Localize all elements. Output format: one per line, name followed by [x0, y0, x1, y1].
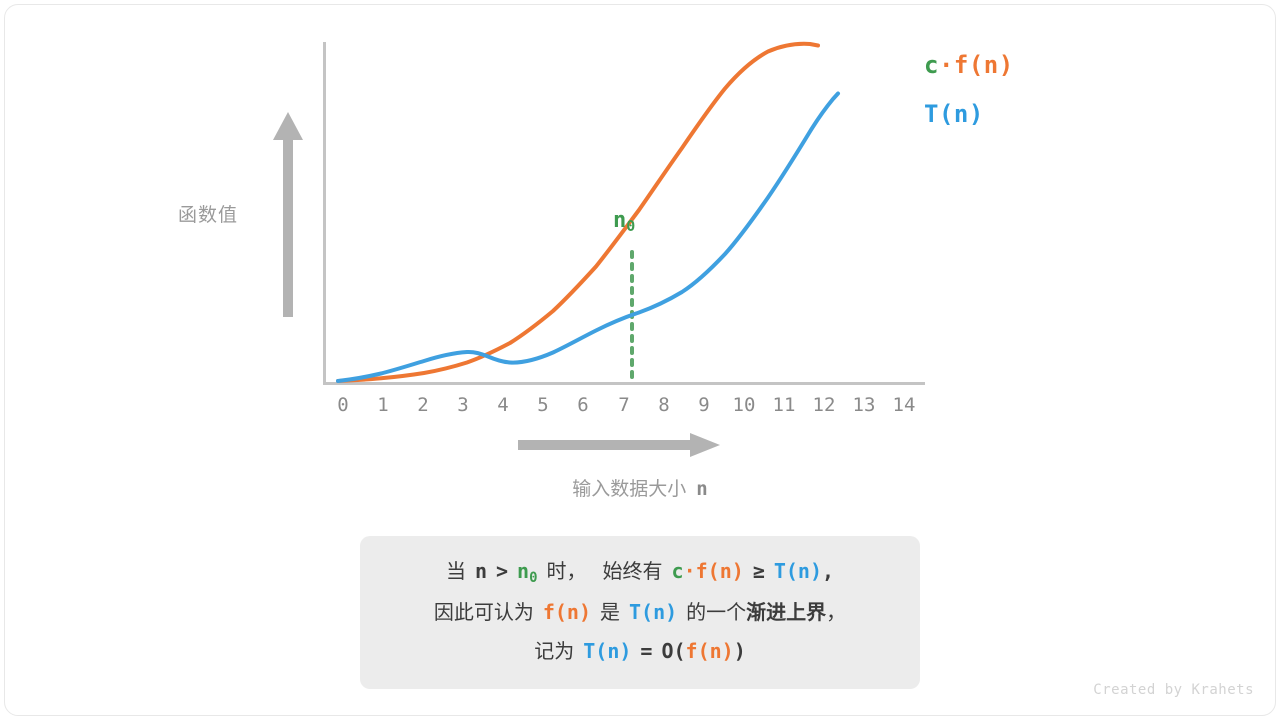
tick-label: 2: [402, 392, 444, 418]
x-axis-label: 输入数据大小n: [0, 474, 1280, 501]
caption-line-2: 因此可认为f(n)是T(n)的一个渐进上界，: [360, 593, 920, 632]
caption-l1-comma: ,: [822, 559, 834, 583]
caption-l1-then: 时，: [547, 561, 587, 583]
tick-label: 0: [322, 392, 364, 418]
n0-marker-label: n0: [613, 208, 635, 233]
tick-label: 8: [643, 392, 685, 418]
tick-label: 11: [763, 392, 805, 418]
caption-l1-always: 始终有: [603, 561, 663, 583]
caption-l2-upper-bound-term: 渐进上界: [746, 602, 826, 624]
caption-l1-dot: ·: [684, 559, 696, 583]
n0-marker-name: n: [613, 208, 626, 233]
n0-marker-subscript: 0: [626, 217, 635, 235]
caption-l3-fn: f(n): [686, 639, 734, 663]
caption-l2-of-a: 的一个: [686, 602, 746, 624]
tick-label: 5: [522, 392, 564, 418]
legend-constant-c: c: [924, 51, 939, 79]
caption-l1-when: 当: [446, 561, 466, 583]
caption-l2-is: 是: [600, 602, 620, 624]
caption-l3-denoted: 记为: [534, 641, 574, 663]
x-axis-variable: n: [696, 478, 707, 500]
caption-l1-n: n: [475, 559, 487, 583]
tick-label: 4: [482, 392, 524, 418]
caption-l1-c: c: [672, 559, 684, 583]
tick-label: 1: [362, 392, 404, 418]
caption-l2-comma: ，: [826, 602, 846, 624]
tick-label: 10: [723, 392, 765, 418]
legend-dot-operator: ·: [939, 51, 954, 79]
legend-label-tn: T(n): [924, 100, 984, 128]
caption-l1-n0: n0: [517, 559, 537, 583]
caption-line-3: 记为T(n)=O(f(n)): [360, 632, 920, 671]
x-axis-tick-labels: 0 1 2 3 4 5 6 7 8 9 10 11 12 13 14: [323, 392, 925, 422]
series-line-cfn: [338, 44, 818, 381]
caption-l2-therefore: 因此可认为: [434, 602, 534, 624]
tick-label: 9: [683, 392, 725, 418]
tick-label: 13: [843, 392, 885, 418]
caption-l2-tn: T(n): [629, 600, 677, 624]
tick-label: 6: [562, 392, 604, 418]
caption-l1-gt: >: [496, 559, 508, 583]
legend-label-cfn: c·f(n): [924, 51, 1014, 79]
caption-line-1: 当n>n0时，始终有c·f(n)≥T(n),: [360, 552, 920, 593]
y-axis-arrow: [272, 112, 304, 317]
caption-l3-eq: =: [640, 639, 652, 663]
tick-label: 3: [442, 392, 484, 418]
tick-label: 14: [883, 392, 925, 418]
legend-function-fn: f(n): [954, 51, 1014, 79]
y-axis-label: 函数值: [178, 200, 238, 227]
caption-box: 当n>n0时，始终有c·f(n)≥T(n), 因此可认为f(n)是T(n)的一个…: [360, 536, 920, 689]
tick-label: 12: [803, 392, 845, 418]
caption-l1-tn: T(n): [774, 559, 822, 583]
x-axis-label-text: 输入数据大小: [572, 479, 686, 500]
caption-l1-ge: ≥: [753, 559, 765, 583]
caption-l3-close-paren: ): [734, 639, 746, 663]
figure-canvas: 0 1 2 3 4 5 6 7 8 9 10 11 12 13 14 函数值 输…: [0, 0, 1280, 720]
caption-l1-fn: f(n): [696, 559, 744, 583]
x-axis-arrow: [518, 432, 720, 458]
caption-l2-fn: f(n): [543, 600, 591, 624]
series-line-tn: [338, 94, 838, 382]
tick-label: 7: [603, 392, 645, 418]
credit-text: Created by Krahets: [1093, 682, 1254, 698]
caption-l3-bigo: O(: [661, 639, 685, 663]
caption-l3-tn: T(n): [583, 639, 631, 663]
